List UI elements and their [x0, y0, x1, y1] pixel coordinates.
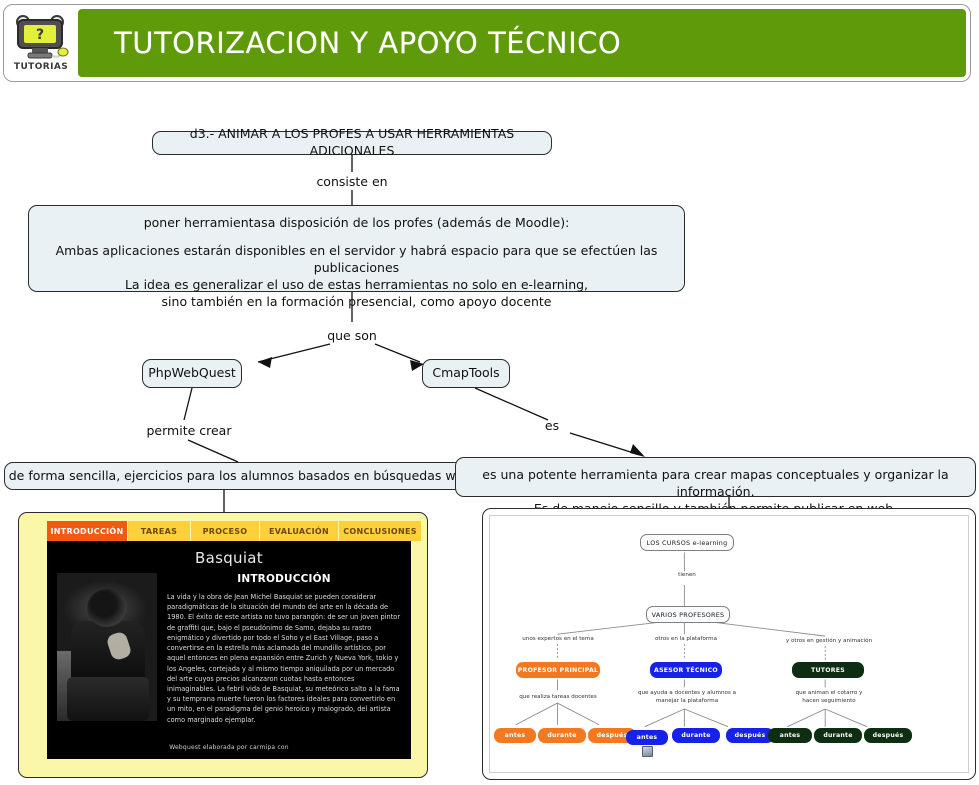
- tab-conclusiones[interactable]: CONCLUSIONES: [339, 521, 422, 541]
- phpwebquest-description-node[interactable]: de forma sencilla, ejercicios para los a…: [4, 462, 476, 490]
- cmap-leaf-antes-1[interactable]: antes: [494, 728, 536, 743]
- page-header: ? TUTORIAS TUTORIZACION Y APOYO TÉCNICO: [3, 4, 971, 82]
- link-consiste-en: consiste en: [300, 174, 404, 189]
- cmap-level2-node[interactable]: VARIOS PROFESORES: [646, 606, 730, 623]
- tab-introduccion-label: INTRODUCCIÓN: [50, 527, 123, 536]
- description-spacer: [29, 232, 684, 243]
- node-phpwebquest-label: PhpWebQuest: [148, 365, 236, 382]
- cmap-branch2-link: otros en la plataforma: [638, 635, 734, 643]
- cmap-root-label: LOS CURSOS e-learning: [647, 539, 728, 547]
- node-cmaptools[interactable]: CmapTools: [422, 359, 510, 388]
- cmap-leaf-despues-3-label: después: [873, 732, 904, 739]
- webquest-text-column: INTRODUCCIÓN La vida y la obra de Jean M…: [167, 573, 401, 725]
- link-que-son: que son: [315, 328, 389, 343]
- description-line-2: Ambas aplicaciones estarán disponibles e…: [29, 243, 684, 277]
- cmap-branch3-link: y otros en gestión y animación: [766, 637, 892, 645]
- cmap-leaf-despues-2[interactable]: después: [726, 728, 774, 743]
- cmap-link-tienen: tienen: [658, 571, 716, 579]
- cmap-root-node[interactable]: LOS CURSOS e-learning: [640, 534, 734, 551]
- root-node[interactable]: d3.- ANIMAR A LOS PROFES A USAR HERRAMIE…: [152, 131, 552, 155]
- webquest-paragraph: La vida y la obra de Jean Michel Basquia…: [167, 592, 401, 725]
- cmap-node-tutores-label: TUTORES: [811, 667, 845, 674]
- cmap-leaf-durante-1-label: durante: [547, 732, 576, 739]
- webquest-content-area: Basquiat INTRODUCCIÓN La vida y la obra …: [47, 541, 411, 759]
- cmap-leaf-despues-1-label: después: [597, 732, 628, 739]
- webquest-footer: Webquest elaborada por carmipa con: [47, 744, 411, 751]
- cmap-node-tutores[interactable]: TUTORES: [792, 662, 864, 678]
- cmap-leaf-antes-2[interactable]: antes: [626, 730, 668, 745]
- cmap-branch3-sublink-line1: que animan el cotarro y: [774, 689, 884, 697]
- description-line-4: sino también en la formación presencial,…: [29, 294, 684, 311]
- logo-label: TUTORIAS: [14, 62, 68, 72]
- description-line-1: poner herramientasa disposición de los p…: [29, 215, 684, 232]
- tab-proceso[interactable]: PROCESO: [191, 521, 260, 541]
- cmap-leaf-antes-3[interactable]: antes: [768, 728, 812, 743]
- webquest-section-heading: INTRODUCCIÓN: [167, 573, 401, 585]
- tab-evaluacion-label: EVALUACIÓN: [269, 527, 329, 536]
- phpwebquest-description-label: de forma sencilla, ejercicios para los a…: [9, 468, 471, 485]
- cmap-branch2-sublink: que ayuda a docentes y alumnos a manejar…: [626, 689, 748, 706]
- cmap-branch2-sublink-line2: manejar la plataforma: [626, 697, 748, 705]
- header-banner: TUTORIZACION Y APOYO TÉCNICO: [78, 9, 966, 77]
- cmaptools-canvas: LOS CURSOS e-learning tienen VARIOS PROF…: [489, 515, 969, 773]
- basquiat-photo: [57, 573, 157, 721]
- link-es: es: [536, 418, 568, 433]
- cmap-level2-label: VARIOS PROFESORES: [652, 611, 725, 619]
- tutorias-logo: ? TUTORIAS: [4, 6, 78, 80]
- tab-evaluacion[interactable]: EVALUACIÓN: [260, 521, 339, 541]
- link-permite-crear: permite crear: [134, 423, 244, 438]
- svg-text:?: ?: [36, 27, 44, 43]
- resource-icon[interactable]: [642, 746, 653, 757]
- cmap-leaf-durante-3-label: durante: [823, 732, 852, 739]
- cmap-leaf-despues-3[interactable]: después: [864, 728, 912, 743]
- cmaptools-description-node[interactable]: es una potente herramienta para crear ma…: [455, 457, 976, 497]
- webquest-body: INTRODUCCIÓN La vida y la obra de Jean M…: [57, 573, 401, 725]
- cmap-leaf-antes-1-label: antes: [505, 732, 526, 739]
- cmap-branch1-link: unos expertos en el tema: [498, 635, 618, 643]
- tab-tareas-label: TAREAS: [141, 527, 177, 536]
- cmap-leaf-durante-2[interactable]: durante: [672, 728, 720, 743]
- node-cmaptools-label: CmapTools: [432, 365, 499, 382]
- cmap-node-asesor-tecnico[interactable]: ASESOR TÉCNICO: [650, 662, 722, 678]
- tab-conclusiones-label: CONCLUSIONES: [343, 527, 417, 536]
- cmap-leaf-antes-2-label: antes: [637, 734, 658, 741]
- cmaptools-description-line-1: es una potente herramienta para crear ma…: [456, 467, 975, 501]
- tab-tareas[interactable]: TAREAS: [128, 521, 191, 541]
- node-phpwebquest[interactable]: PhpWebQuest: [142, 359, 242, 388]
- cmap-leaf-durante-3[interactable]: durante: [814, 728, 862, 743]
- webquest-title: Basquiat: [57, 549, 401, 567]
- cmap-leaf-durante-2-label: durante: [681, 732, 710, 739]
- tab-proceso-label: PROCESO: [203, 527, 248, 536]
- computer-question-icon: ?: [13, 15, 69, 61]
- root-node-label: d3.- ANIMAR A LOS PROFES A USAR HERRAMIE…: [153, 126, 551, 160]
- cmap-node-profesor-principal-label: PROFESOR PRINCIPAL: [518, 667, 598, 674]
- cmap-leaf-despues-2-label: después: [735, 732, 766, 739]
- webquest-page: INTRODUCCIÓN TAREAS PROCESO EVALUACIÓN C…: [29, 521, 417, 769]
- cmap-node-profesor-principal[interactable]: PROFESOR PRINCIPAL: [516, 662, 600, 678]
- cmap-branch3-sublink-line2: hacen seguimiento: [774, 697, 884, 705]
- cmaptools-screenshot[interactable]: LOS CURSOS e-learning tienen VARIOS PROF…: [482, 508, 976, 780]
- webquest-screenshot[interactable]: INTRODUCCIÓN TAREAS PROCESO EVALUACIÓN C…: [18, 512, 428, 778]
- cmap-branch1-sublink: que realiza tareas docentes: [502, 693, 614, 701]
- cmap-node-asesor-tecnico-label: ASESOR TÉCNICO: [654, 667, 718, 674]
- webquest-tab-bar: INTRODUCCIÓN TAREAS PROCESO EVALUACIÓN C…: [47, 521, 417, 541]
- cmap-leaf-durante-1[interactable]: durante: [538, 728, 586, 743]
- tab-introduccion[interactable]: INTRODUCCIÓN: [47, 521, 128, 541]
- cmap-branch3-sublink: que animan el cotarro y hacen seguimient…: [774, 689, 884, 706]
- page-title: TUTORIZACION Y APOYO TÉCNICO: [78, 26, 621, 60]
- cmap-branch2-sublink-line1: que ayuda a docentes y alumnos a: [626, 689, 748, 697]
- description-line-3: La idea es generalizar el uso de estas h…: [29, 277, 684, 294]
- cmap-leaf-antes-3-label: antes: [780, 732, 801, 739]
- description-node[interactable]: poner herramientasa disposición de los p…: [28, 205, 685, 292]
